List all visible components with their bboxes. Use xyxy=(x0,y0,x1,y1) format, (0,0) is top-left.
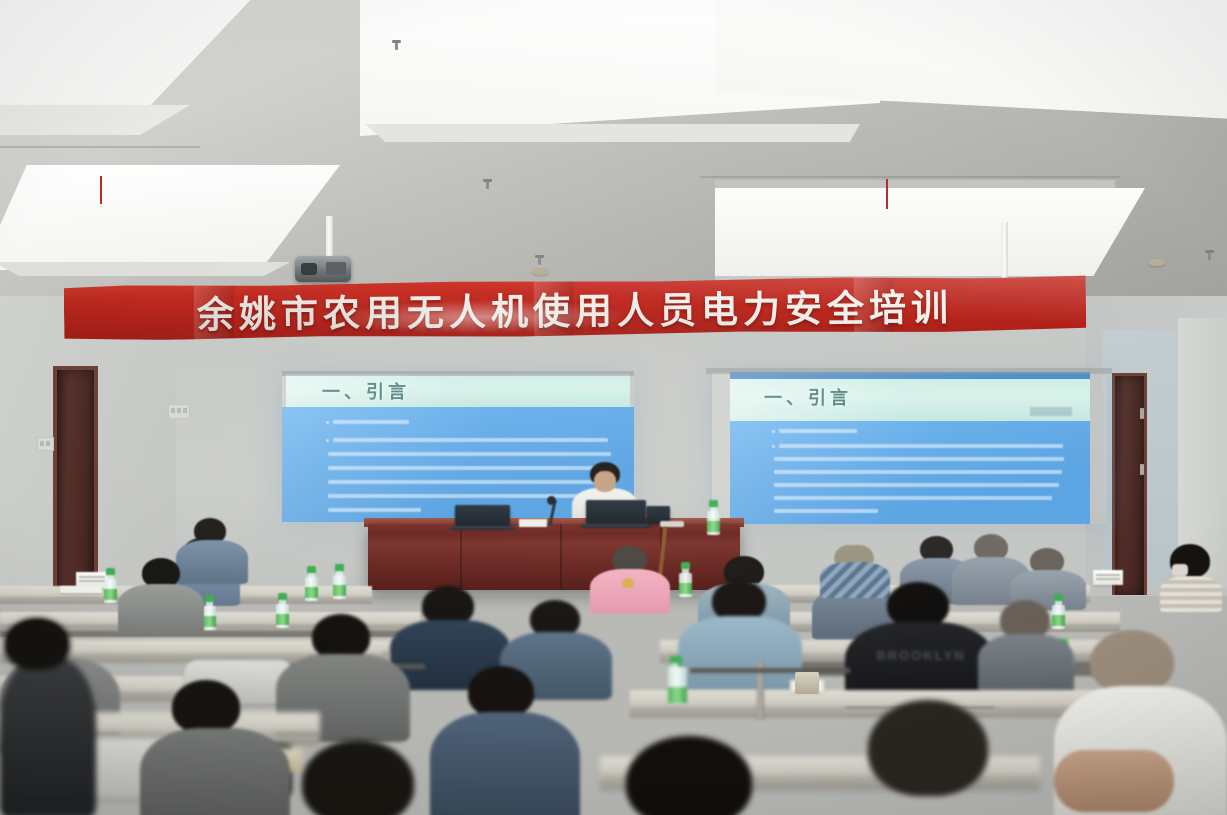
attendee-brooklyn-tee: BROOKLYN xyxy=(845,582,995,706)
laptop-right-screen[interactable] xyxy=(586,500,646,525)
attendee-foreground-right xyxy=(852,700,1032,815)
ceiling-marker xyxy=(100,176,102,204)
name-card xyxy=(1093,570,1123,585)
ceiling-marker xyxy=(886,179,888,209)
laptop-left-base[interactable] xyxy=(450,526,515,530)
attendee xyxy=(430,666,580,815)
shirt-logo xyxy=(622,578,634,588)
classroom-training-photo: 一、引言 一、引言 xyxy=(0,0,1227,815)
attendee-shirt xyxy=(118,584,204,634)
laptop-right-base[interactable] xyxy=(581,524,651,528)
ceiling-rail xyxy=(715,180,1115,189)
projector-device xyxy=(295,256,351,282)
attendee-shirt xyxy=(1160,576,1222,612)
projection-screen-right-top-edge xyxy=(706,368,1112,374)
projection-screen-left-top-edge xyxy=(282,371,634,376)
attendee-arm xyxy=(1054,750,1174,812)
door-handle-icon[interactable] xyxy=(1140,408,1144,419)
projector-mount-pole xyxy=(1001,222,1008,282)
ceiling-soffit-line xyxy=(700,176,1120,178)
attendee-foreground-left xyxy=(0,618,96,815)
attendee-shirt xyxy=(678,616,802,690)
attendee xyxy=(678,580,802,680)
attendee-foreground xyxy=(604,736,804,815)
attendee xyxy=(118,558,204,628)
microphone-head-icon xyxy=(547,496,556,505)
ceiling-soffit-line xyxy=(0,146,200,148)
papers xyxy=(60,586,102,593)
attendee xyxy=(1010,548,1086,604)
attendee-head xyxy=(4,618,70,670)
sprinkler-head-icon xyxy=(483,179,492,190)
attendee-head xyxy=(1090,630,1174,694)
attendee xyxy=(140,680,290,815)
bottle xyxy=(203,595,216,630)
attendee-shirt xyxy=(0,658,96,815)
bottle xyxy=(305,566,318,601)
door-hinge-icon xyxy=(1140,464,1144,475)
attendee-white-tee xyxy=(1054,630,1227,815)
ceiling-light-panel-edge xyxy=(355,124,865,142)
attendee-shirt xyxy=(140,728,290,815)
ceiling-light-panel xyxy=(715,188,1145,276)
attendee-head xyxy=(626,736,752,815)
presenter-face xyxy=(594,471,616,492)
attendee-striped-top xyxy=(1160,544,1222,608)
attendee-head xyxy=(868,700,988,796)
bottle xyxy=(104,568,117,603)
light-switch-plate-left[interactable] xyxy=(37,437,54,451)
bottle xyxy=(333,564,346,599)
bottle xyxy=(668,656,687,706)
smoke-detector-icon xyxy=(532,268,549,275)
sprinkler-head-icon xyxy=(392,40,401,51)
door-left[interactable] xyxy=(57,370,94,598)
attendee-pink-shirt xyxy=(590,546,670,606)
brooklyn-tee-text: BROOKLYN xyxy=(873,648,969,663)
bottle xyxy=(707,500,720,535)
attendee-shirt xyxy=(430,712,580,815)
projection-screen-right: 一、引言 xyxy=(712,372,1107,524)
ceiling-light-panel-edge xyxy=(0,262,310,276)
light-switch-plate[interactable] xyxy=(168,404,190,419)
sprinkler-head-icon xyxy=(535,255,544,266)
attendee-head xyxy=(302,740,414,815)
attendee-head xyxy=(468,666,534,718)
podium-papers xyxy=(519,519,547,527)
cigarette-pack xyxy=(795,672,819,694)
attendee-head xyxy=(172,680,240,734)
smoke-detector-icon xyxy=(1148,259,1165,266)
sprinkler-head-icon xyxy=(1205,250,1214,261)
face-mask xyxy=(1172,564,1188,576)
laptop-left-screen[interactable] xyxy=(455,505,510,527)
